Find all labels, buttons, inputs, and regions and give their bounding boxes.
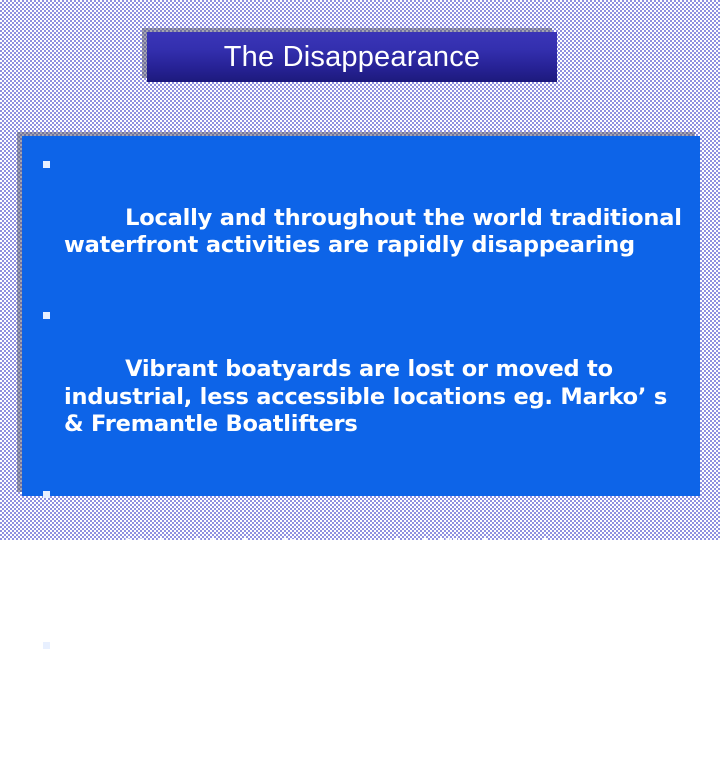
list-item[interactable]: Opportunity is here for development of a… — [34, 631, 688, 768]
square-bullet-icon — [43, 312, 50, 319]
slide-content-placeholder[interactable]: Locally and throughout the world traditi… — [22, 136, 700, 496]
list-item-label: Valuable heritage and skilled trades are… — [64, 535, 634, 588]
presentation-slide: The Disappearance Locally and throughout… — [0, 0, 720, 540]
square-bullet-icon — [43, 642, 50, 649]
square-bullet-icon — [43, 161, 50, 168]
list-item[interactable]: Locally and throughout the world traditi… — [34, 150, 688, 287]
list-item-label: Locally and throughout the world traditi… — [64, 205, 689, 258]
list-item[interactable]: Vibrant boatyards are lost or moved to i… — [34, 301, 688, 466]
bullet-list: Locally and throughout the world traditi… — [34, 150, 688, 768]
slide-title-placeholder[interactable]: The Disappearance — [147, 32, 557, 82]
page-title: The Disappearance — [224, 43, 481, 72]
list-item-label: Opportunity is here for development of a… — [64, 686, 662, 739]
list-item-label: Vibrant boatyards are lost or moved to i… — [64, 356, 675, 437]
list-item[interactable]: Valuable heritage and skilled trades are… — [34, 480, 688, 617]
square-bullet-icon — [43, 491, 50, 498]
